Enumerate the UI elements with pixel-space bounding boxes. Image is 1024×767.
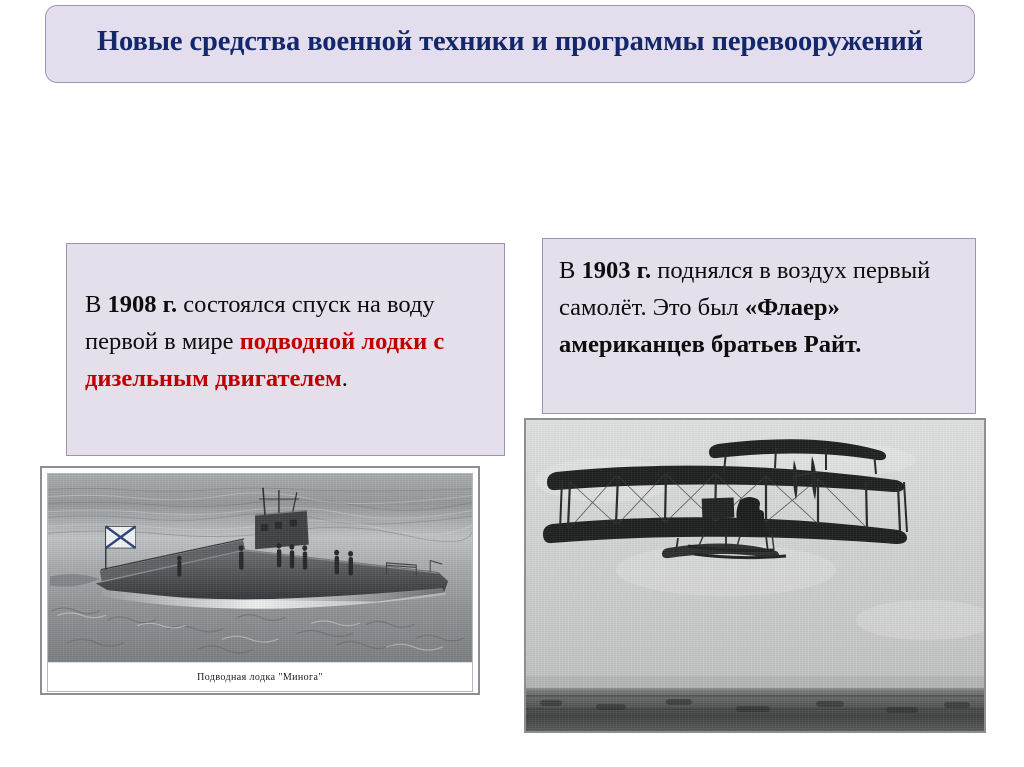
text-run-period: . xyxy=(342,365,348,392)
airplane-photo xyxy=(526,420,984,731)
submarine-photo-inner-border: Подводная лодка "Минога" xyxy=(47,473,473,692)
submarine-illustration xyxy=(48,474,472,662)
text-run-normal: В xyxy=(85,291,107,318)
submarine-photo-caption: Подводная лодка "Минога" xyxy=(48,662,472,691)
submarine-callout-text: В 1908 г. состоялся спуск на воду первой… xyxy=(85,286,490,398)
submarine-photo xyxy=(48,474,472,662)
page-title: Новые средства военной техники и програм… xyxy=(97,23,923,61)
wright-flyer-illustration xyxy=(526,420,984,731)
airplane-callout: В 1903 г. поднялся в воздух первый самол… xyxy=(542,238,976,414)
submarine-photo-frame: Подводная лодка "Минога" xyxy=(42,468,478,693)
slide-title-banner: Новые средства военной техники и програм… xyxy=(45,5,975,83)
text-run-year-1908: 1908 г. xyxy=(107,291,177,318)
text-run-year-1903: 1903 г. xyxy=(581,257,651,284)
submarine-callout: В 1908 г. состоялся спуск на воду первой… xyxy=(66,243,505,456)
pilot-figure xyxy=(748,498,760,510)
airplane-photo-frame xyxy=(526,420,984,731)
naval-ensign-flag xyxy=(106,526,136,548)
text-run-normal: В xyxy=(559,257,581,284)
airplane-callout-text: В 1903 г. поднялся в воздух первый самол… xyxy=(559,253,963,363)
